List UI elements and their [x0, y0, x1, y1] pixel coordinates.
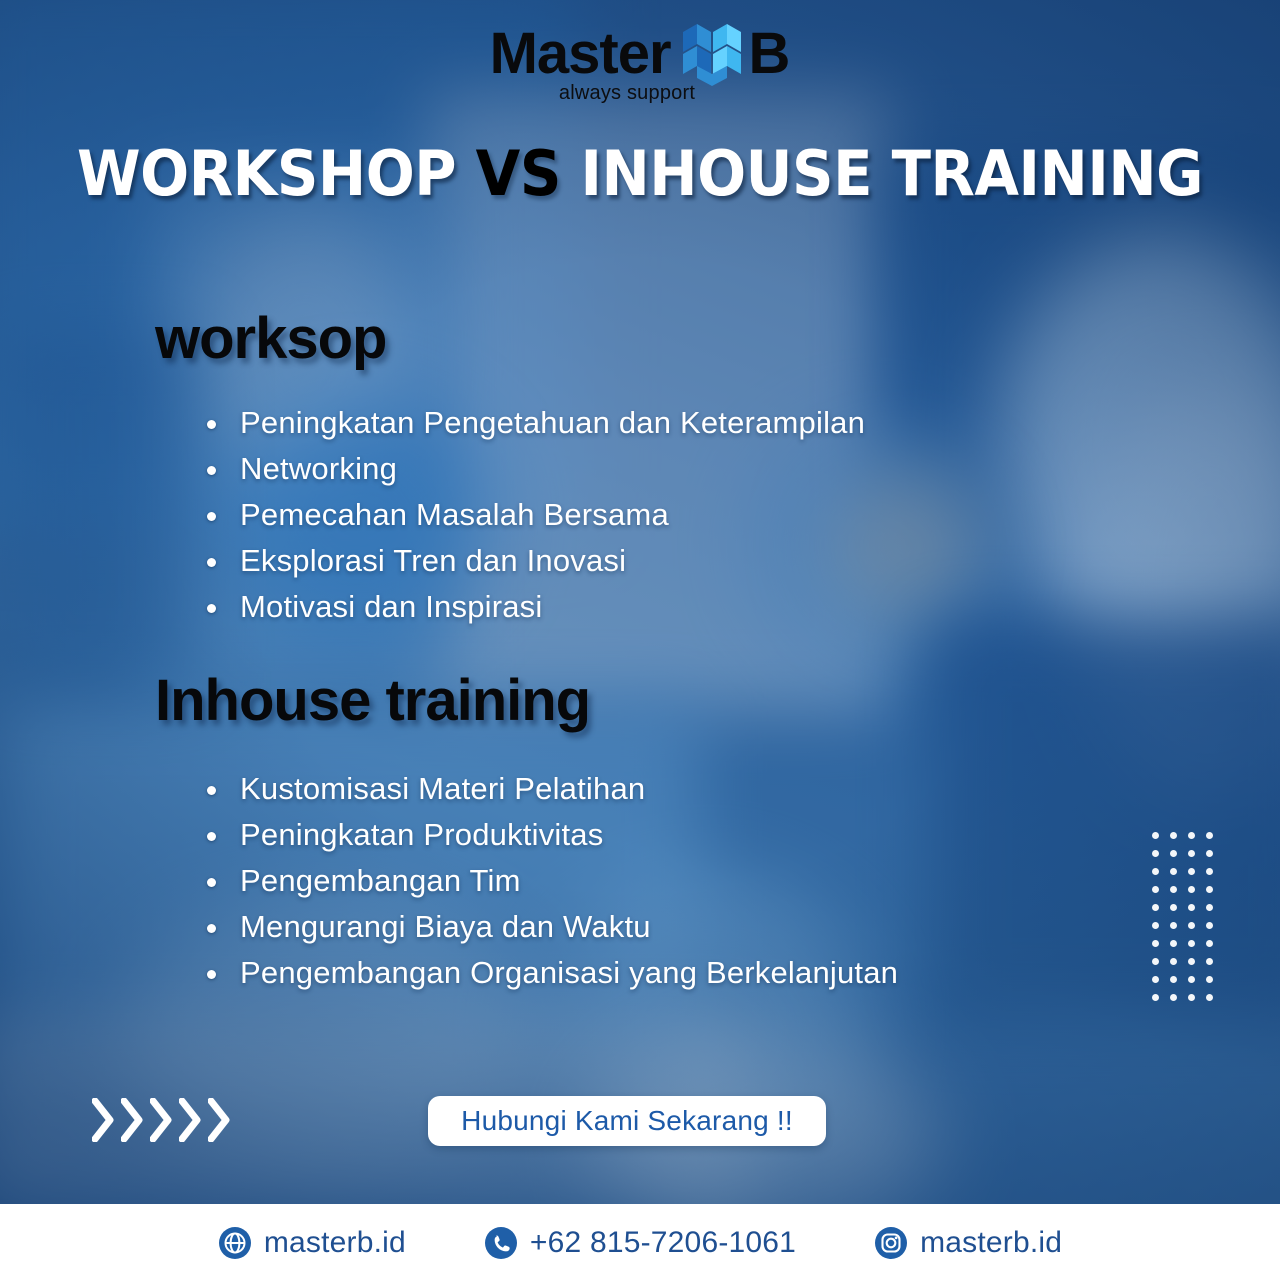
logo-wordmark-left: Master	[490, 25, 671, 83]
dot	[1152, 958, 1159, 965]
dot	[1206, 868, 1213, 875]
list-item: Motivasi dan Inspirasi	[196, 584, 865, 630]
dot	[1188, 832, 1195, 839]
list-item: Pemecahan Masalah Bersama	[196, 492, 865, 538]
page-title: WORKSHOP VS INHOUSE TRAINING	[45, 143, 1235, 205]
list-item: Pengembangan Tim	[196, 858, 898, 904]
dot	[1170, 922, 1177, 929]
dot	[1206, 886, 1213, 893]
footer-instagram[interactable]: masterb.id	[874, 1226, 1062, 1260]
title-part-vs: VS	[476, 137, 561, 210]
dot	[1188, 868, 1195, 875]
section-heading-inhouse: Inhouse training	[155, 672, 590, 730]
chevron-right-icon	[208, 1098, 231, 1142]
poster-canvas: Master B always support WORKSHOP VS INHO	[0, 0, 1280, 1280]
dot	[1152, 994, 1159, 1001]
dot	[1206, 922, 1213, 929]
dot	[1170, 940, 1177, 947]
list-item: Kustomisasi Materi Pelatihan	[196, 766, 898, 812]
inhouse-benefit-list: Kustomisasi Materi Pelatihan Peningkatan…	[196, 766, 898, 996]
title-part-workshop: WORKSHOP	[77, 137, 456, 210]
workshop-benefit-list: Peningkatan Pengetahuan dan Keterampilan…	[196, 400, 865, 630]
dot	[1170, 886, 1177, 893]
logo-row: Master B	[490, 22, 791, 86]
list-item: Peningkatan Produktivitas	[196, 812, 898, 858]
chevron-arrow-group	[92, 1098, 237, 1142]
dot	[1206, 832, 1213, 839]
dot	[1170, 904, 1177, 911]
footer-instagram-label: masterb.id	[920, 1226, 1062, 1260]
m-monogram-icon	[681, 22, 743, 86]
dot	[1152, 976, 1159, 983]
footer-bar: masterb.id +62 815-7206-1061 masterb.id	[0, 1204, 1280, 1280]
dot	[1152, 922, 1159, 929]
dot	[1152, 868, 1159, 875]
section-heading-workshop: worksop	[155, 310, 387, 368]
dot	[1170, 832, 1177, 839]
list-item: Networking	[196, 446, 865, 492]
brand-logo: Master B always support	[0, 22, 1280, 105]
dot	[1188, 976, 1195, 983]
dot	[1152, 850, 1159, 857]
dot	[1206, 958, 1213, 965]
title-part-inhouse: INHOUSE TRAINING	[581, 137, 1203, 210]
footer-website-label: masterb.id	[264, 1226, 406, 1260]
footer-phone-label: +62 815-7206-1061	[530, 1226, 796, 1260]
dot	[1152, 940, 1159, 947]
chevron-right-icon	[92, 1098, 115, 1142]
dot	[1170, 850, 1177, 857]
dot	[1152, 904, 1159, 911]
dot	[1152, 886, 1159, 893]
dot	[1206, 904, 1213, 911]
logo-tagline: always support	[559, 82, 695, 105]
dot-grid-decoration	[1152, 832, 1224, 1012]
dot	[1206, 976, 1213, 983]
footer-website[interactable]: masterb.id	[218, 1226, 406, 1260]
list-item: Mengurangi Biaya dan Waktu	[196, 904, 898, 950]
dot	[1206, 940, 1213, 947]
dot	[1188, 958, 1195, 965]
contact-us-button-label: Hubungi Kami Sekarang !!	[461, 1105, 793, 1137]
list-item: Eksplorasi Tren dan Inovasi	[196, 538, 865, 584]
dot	[1188, 904, 1195, 911]
dot	[1188, 994, 1195, 1001]
chevron-right-icon	[179, 1098, 202, 1142]
dot	[1152, 832, 1159, 839]
list-item: Peningkatan Pengetahuan dan Keterampilan	[196, 400, 865, 446]
dot	[1170, 994, 1177, 1001]
dot	[1170, 868, 1177, 875]
phone-icon	[484, 1226, 518, 1260]
dot	[1188, 940, 1195, 947]
dot	[1206, 994, 1213, 1001]
dot	[1170, 976, 1177, 983]
chevron-right-icon	[121, 1098, 144, 1142]
dot	[1206, 850, 1213, 857]
dot	[1188, 886, 1195, 893]
dot	[1188, 850, 1195, 857]
chevron-right-icon	[150, 1098, 173, 1142]
globe-icon	[218, 1226, 252, 1260]
list-item: Pengembangan Organisasi yang Berkelanjut…	[196, 950, 898, 996]
instagram-icon	[874, 1226, 908, 1260]
footer-phone[interactable]: +62 815-7206-1061	[484, 1226, 796, 1260]
contact-us-button[interactable]: Hubungi Kami Sekarang !!	[428, 1096, 826, 1146]
dot	[1188, 922, 1195, 929]
dot	[1170, 958, 1177, 965]
logo-wordmark-right: B	[749, 25, 791, 83]
